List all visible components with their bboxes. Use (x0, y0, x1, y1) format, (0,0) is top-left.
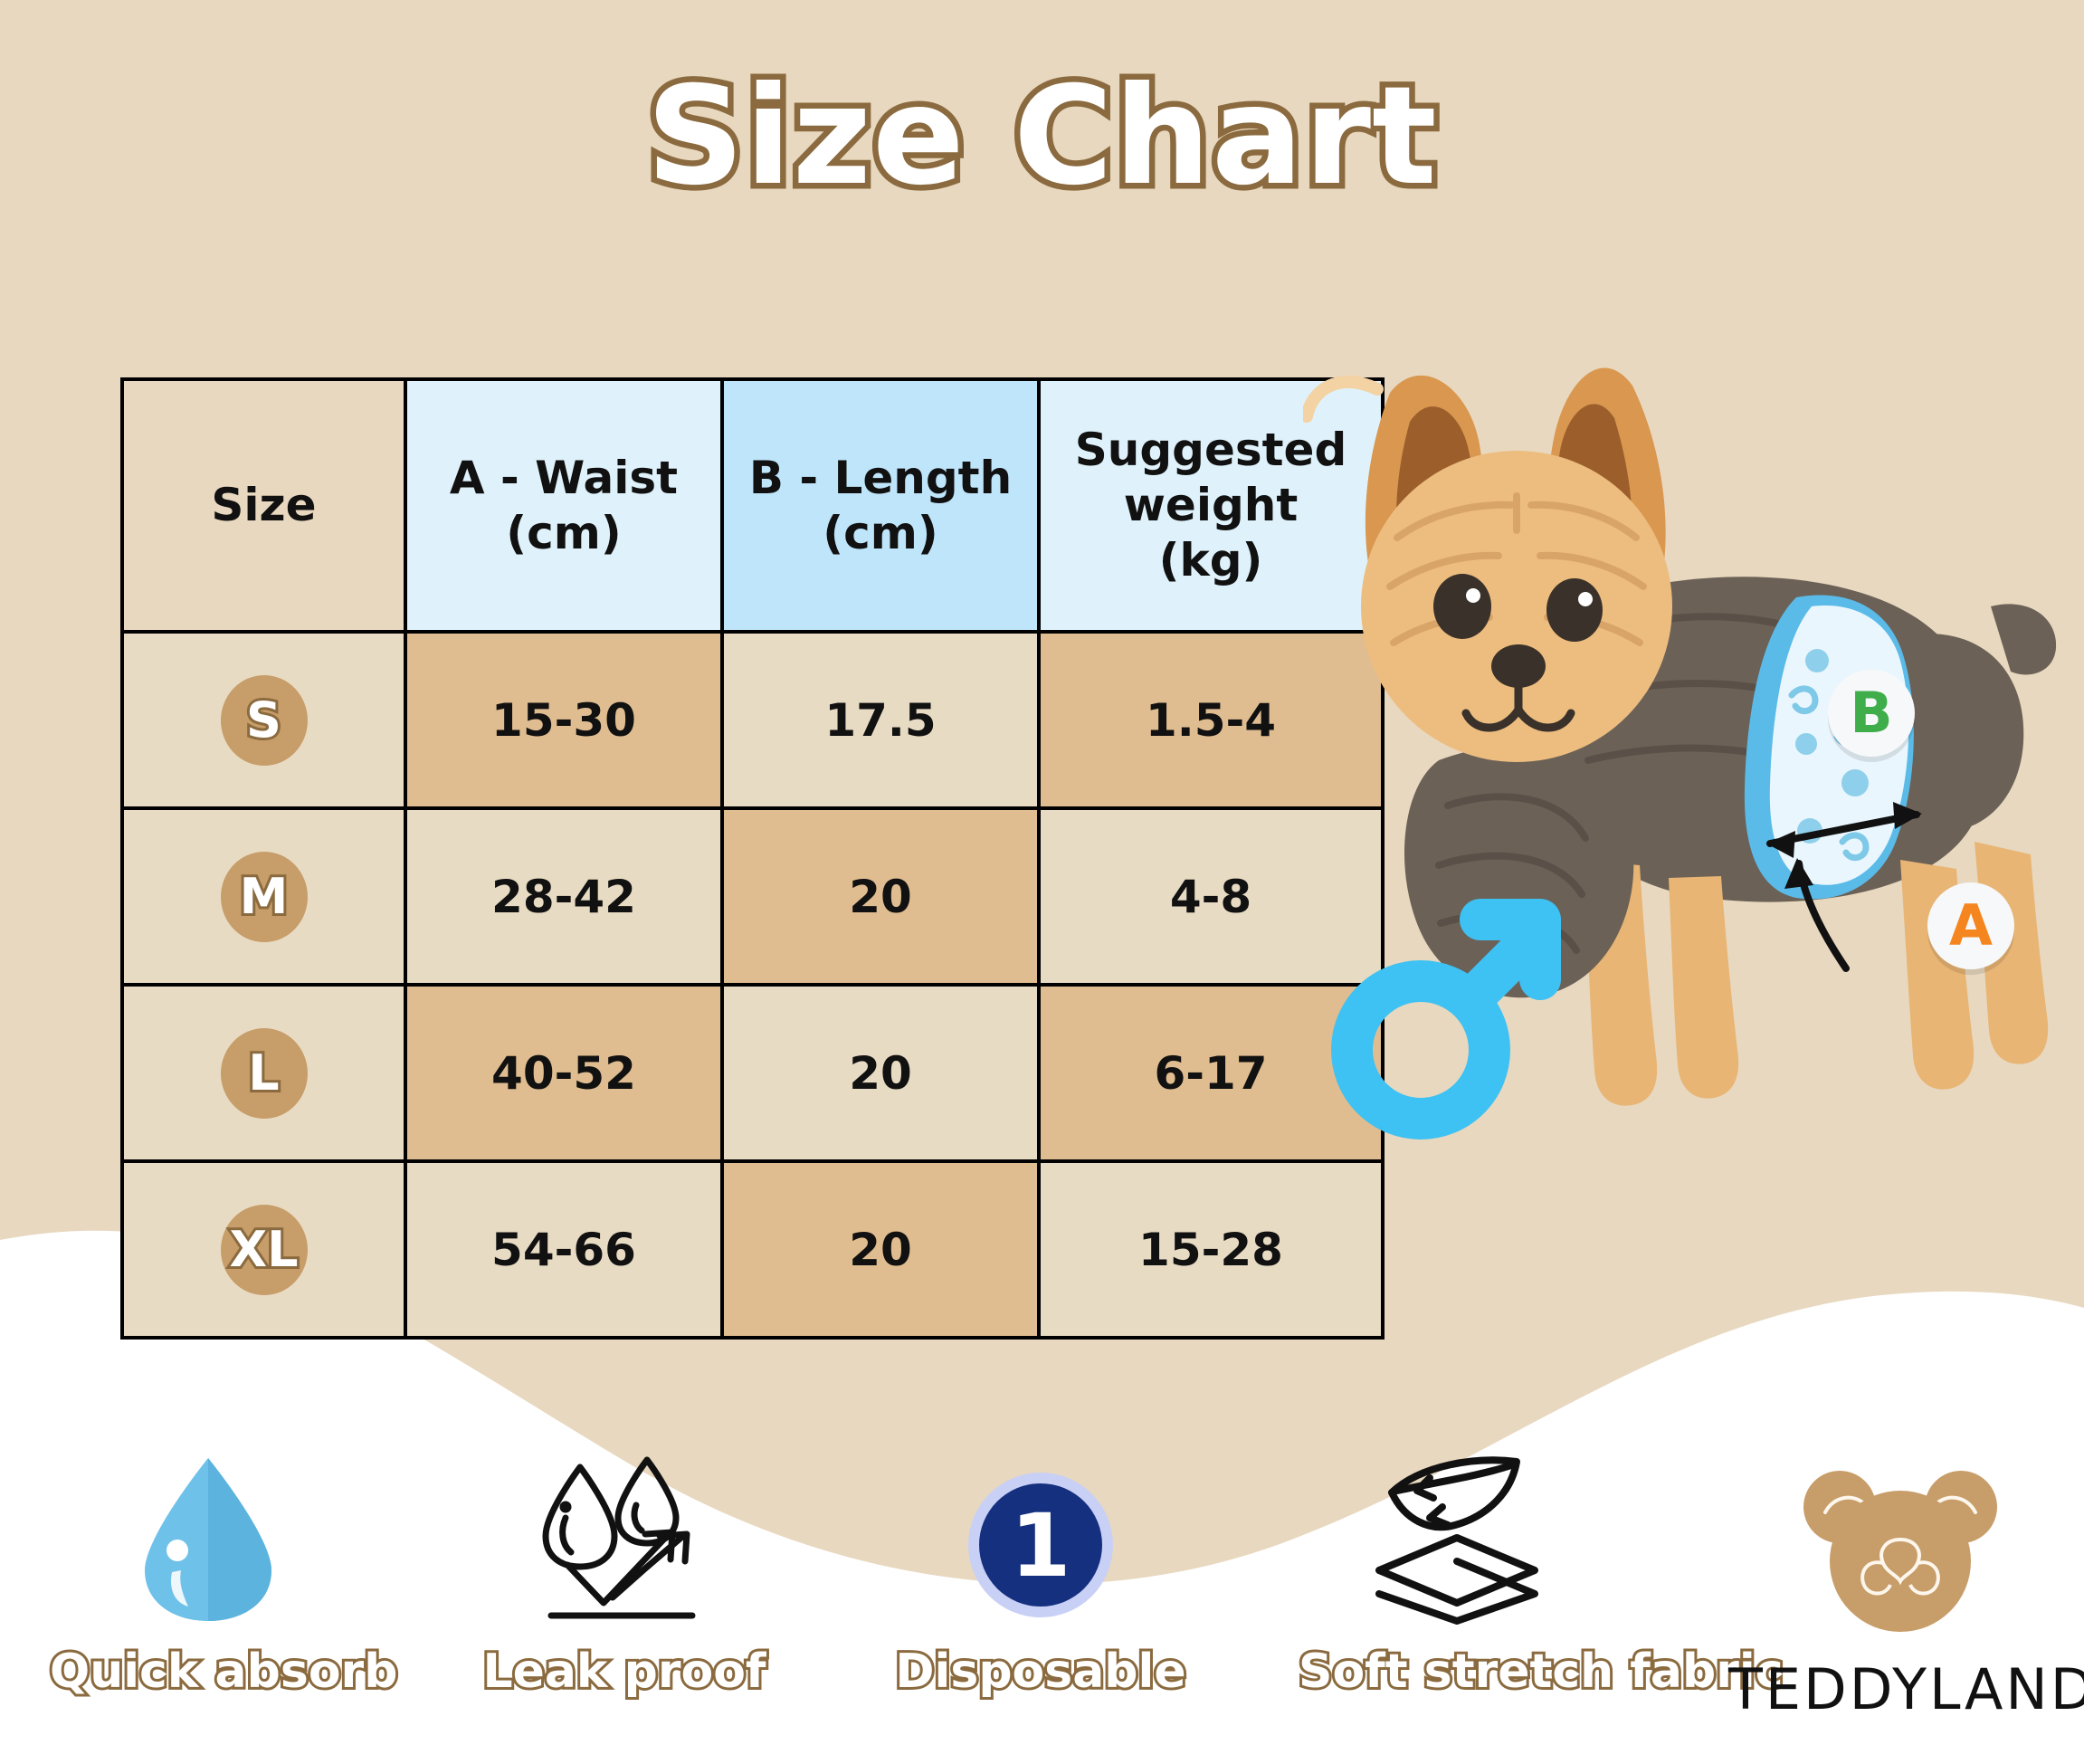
length-cell: 17.5 (722, 632, 1039, 808)
waist-cell: 40-52 (405, 985, 722, 1161)
size-badge: M (221, 852, 308, 942)
feature-soft-stretch-fabric: Soft stretch fabric (1299, 1448, 1615, 1699)
svg-text:1: 1 (1011, 1495, 1071, 1597)
length-cell: 20 (722, 1161, 1039, 1338)
header-length-line1: B - Length (731, 451, 1030, 506)
header-length-line2: (cm) (731, 506, 1030, 561)
size-cell: XL (122, 1161, 405, 1338)
header-length: B - Length (cm) (722, 379, 1039, 632)
leak-proof-icon (466, 1448, 783, 1625)
marker-a-badge: A (1927, 882, 2014, 969)
waist-cell: 28-42 (405, 808, 722, 985)
size-cell: L (122, 985, 405, 1161)
feature-label: Quick absorb (50, 1645, 366, 1699)
brand-name: TEDDYLAND (1728, 1656, 2072, 1722)
waist-cell: 15-30 (405, 632, 722, 808)
waist-cell: 54-66 (405, 1161, 722, 1338)
length-cell: 20 (722, 808, 1039, 985)
page-title: Size Chart (0, 52, 2084, 223)
header-size: Size (122, 379, 405, 632)
size-cell: S (122, 632, 405, 808)
table-header: Size A - Waist (cm) B - Length (cm) Sugg… (122, 379, 1383, 632)
table-row: M 28-42 20 4-8 (122, 808, 1383, 985)
size-badge: XL (221, 1205, 308, 1295)
size-badge: S (221, 675, 308, 766)
header-size-label: Size (211, 479, 316, 531)
table-row: XL 54-66 20 15-28 (122, 1161, 1383, 1338)
water-drop-icon (50, 1448, 366, 1625)
size-chart-poster: Size Chart Size A - Waist (cm) B - Lengt… (0, 0, 2084, 1764)
feature-label: Leak proof (466, 1645, 783, 1699)
header-waist: A - Waist (cm) (405, 379, 722, 632)
header-row: Size A - Waist (cm) B - Length (cm) Sugg… (122, 379, 1383, 632)
table-row: L 40-52 20 6-17 (122, 985, 1383, 1161)
feature-disposable: 1 Disposable (882, 1448, 1199, 1699)
feature-label: Disposable (882, 1645, 1199, 1699)
feature-label: Soft stretch fabric (1299, 1645, 1615, 1699)
size-table: Size A - Waist (cm) B - Length (cm) Sugg… (120, 377, 1385, 1340)
size-badge: L (221, 1028, 308, 1119)
feature-list: Quick absorb (0, 1448, 1665, 1699)
size-cell: M (122, 808, 405, 985)
disposable-one-icon: 1 (882, 1448, 1199, 1625)
feature-quick-absorb: Quick absorb (50, 1448, 366, 1699)
length-cell: 20 (722, 985, 1039, 1161)
table-body: S 15-30 17.5 1.5-4 M 28-42 20 4-8 L (122, 632, 1383, 1338)
brand-block: TEDDYLAND (1728, 1462, 2072, 1722)
header-waist-line2: (cm) (414, 506, 713, 561)
table-row: S 15-30 17.5 1.5-4 (122, 632, 1383, 808)
marker-b-badge: B (1828, 670, 1915, 757)
dog-illustration (1303, 335, 2081, 1240)
teddy-bear-logo (1796, 1462, 2004, 1643)
size-table-container: Size A - Waist (cm) B - Length (cm) Sugg… (120, 377, 1308, 1340)
fabric-layers-icon (1299, 1448, 1615, 1625)
feature-leak-proof: Leak proof (466, 1448, 783, 1699)
header-waist-line1: A - Waist (414, 451, 713, 506)
